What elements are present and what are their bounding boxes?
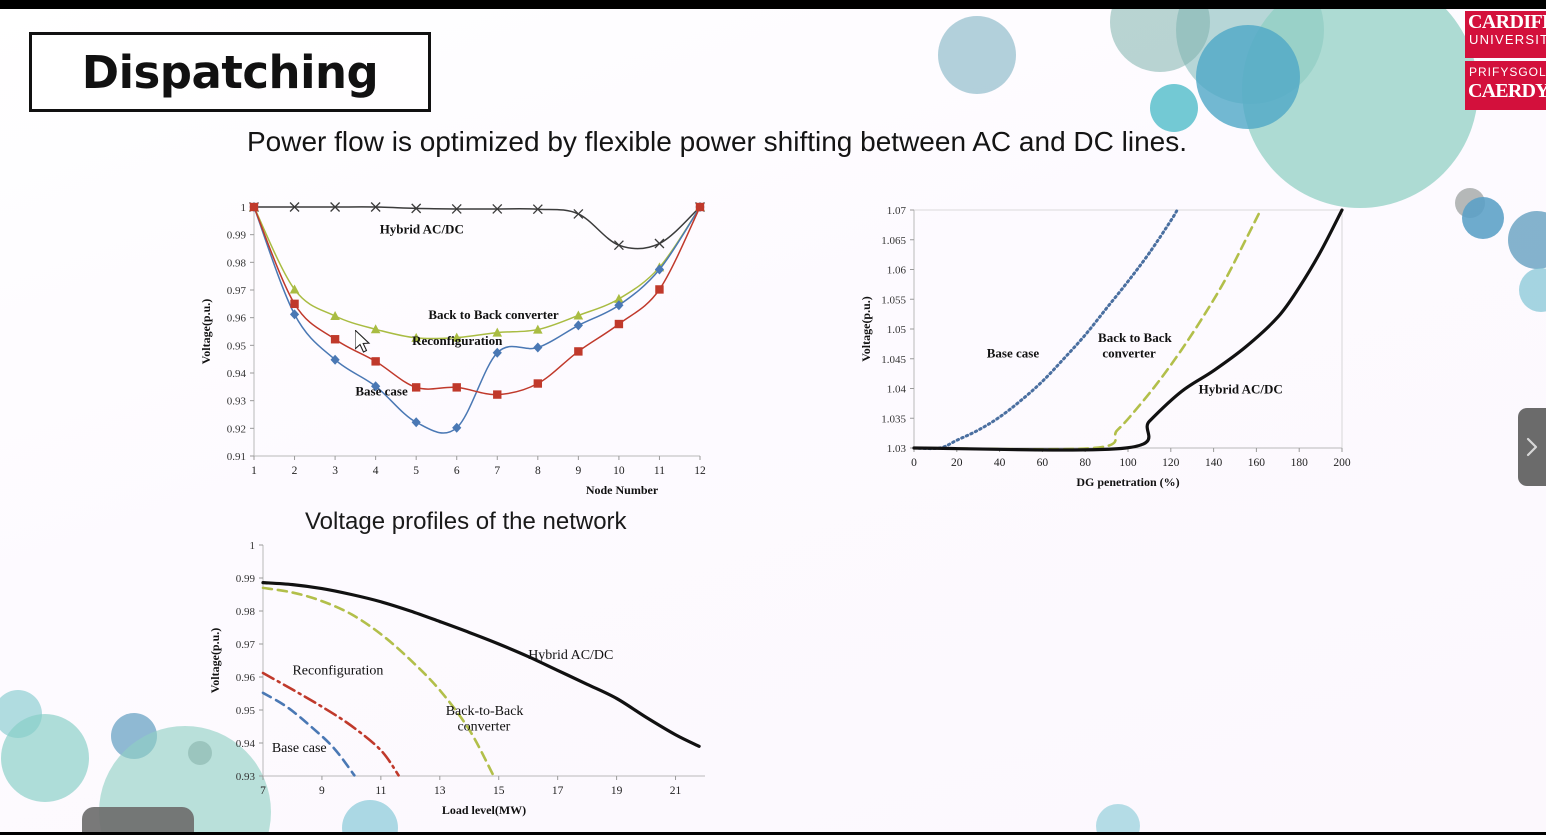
cardiff-logo-bottom: PRIFYSGOL CAERDYDD — [1465, 61, 1546, 110]
svg-text:0.94: 0.94 — [236, 738, 256, 750]
chart-voltage-profiles-node: 0.910.920.930.940.950.960.970.980.991123… — [192, 193, 712, 508]
logo-line-caerdydd: CAERDYDD — [1465, 80, 1546, 102]
svg-text:Back to Back: Back to Back — [1098, 330, 1172, 345]
svg-text:1.035: 1.035 — [881, 413, 906, 425]
next-slide-button[interactable] — [1518, 408, 1546, 486]
svg-text:Back to Back converter: Back to Back converter — [428, 307, 559, 322]
svg-text:19: 19 — [611, 785, 623, 797]
svg-text:converter: converter — [1102, 346, 1156, 361]
chevron-right-icon — [1525, 436, 1539, 458]
svg-text:10: 10 — [613, 465, 625, 477]
svg-text:180: 180 — [1291, 457, 1309, 469]
svg-text:Load level(MW): Load level(MW) — [442, 803, 526, 817]
svg-text:8: 8 — [535, 465, 541, 477]
svg-text:DG penetration (%): DG penetration (%) — [1076, 475, 1179, 489]
svg-text:60: 60 — [1037, 457, 1049, 469]
svg-text:Reconfiguration: Reconfiguration — [292, 663, 383, 678]
page-title-text: Dispatching — [82, 46, 379, 99]
svg-text:1.03: 1.03 — [887, 443, 907, 455]
svg-text:21: 21 — [670, 785, 682, 797]
presentation-slide: CARDIFF UNIVERSITY PRIFYSGOL CAERDYDD Di… — [0, 0, 1546, 835]
svg-text:6: 6 — [454, 465, 460, 477]
chart-3-canvas: 0.930.940.950.960.970.980.99179111315171… — [205, 533, 715, 828]
svg-text:Hybrid AC/DC: Hybrid AC/DC — [528, 648, 613, 663]
svg-text:11: 11 — [375, 785, 386, 797]
svg-text:1.055: 1.055 — [881, 294, 906, 306]
svg-text:Hybrid AC/DC: Hybrid AC/DC — [380, 221, 464, 236]
svg-text:0.99: 0.99 — [227, 230, 247, 242]
svg-text:0.93: 0.93 — [227, 396, 247, 408]
svg-text:13: 13 — [434, 785, 446, 797]
svg-text:0.93: 0.93 — [236, 771, 256, 783]
svg-text:0.96: 0.96 — [227, 313, 247, 325]
svg-text:1.045: 1.045 — [881, 354, 906, 366]
svg-text:0.96: 0.96 — [236, 672, 256, 684]
svg-text:Reconfiguration: Reconfiguration — [412, 333, 503, 348]
svg-text:40: 40 — [994, 457, 1006, 469]
svg-text:1.065: 1.065 — [881, 235, 906, 247]
svg-text:17: 17 — [552, 785, 564, 797]
svg-text:12: 12 — [694, 465, 706, 477]
svg-text:1.07: 1.07 — [887, 205, 907, 217]
svg-text:0.98: 0.98 — [227, 257, 247, 269]
chart-1-canvas: 0.910.920.930.940.950.960.970.980.991123… — [192, 193, 712, 508]
svg-text:0.95: 0.95 — [227, 340, 247, 352]
svg-text:20: 20 — [951, 457, 963, 469]
svg-text:Back-to-Back: Back-to-Back — [446, 704, 524, 719]
svg-text:Base case: Base case — [987, 346, 1040, 361]
svg-text:1.04: 1.04 — [887, 384, 907, 396]
svg-text:5: 5 — [413, 465, 419, 477]
svg-text:Voltage(p.u.): Voltage(p.u.) — [859, 296, 873, 362]
svg-text:2: 2 — [292, 465, 298, 477]
cardiff-logo-top: CARDIFF UNIVERSITY — [1465, 11, 1546, 58]
svg-text:Base case: Base case — [355, 384, 408, 399]
svg-text:140: 140 — [1205, 457, 1223, 469]
svg-text:Voltage(p.u.): Voltage(p.u.) — [208, 628, 222, 694]
svg-text:0.97: 0.97 — [236, 639, 256, 651]
svg-text:0.94: 0.94 — [227, 368, 247, 380]
svg-text:11: 11 — [654, 465, 665, 477]
letterbox-top-bar — [0, 0, 1546, 9]
svg-text:0.92: 0.92 — [227, 423, 246, 435]
svg-text:0.95: 0.95 — [236, 705, 256, 717]
svg-text:3: 3 — [332, 465, 338, 477]
svg-text:1: 1 — [250, 540, 256, 552]
svg-text:0.98: 0.98 — [236, 606, 256, 618]
chart-dg-penetration: 1.031.0351.041.0451.051.0551.061.0651.07… — [852, 196, 1362, 506]
svg-text:converter: converter — [457, 719, 510, 734]
svg-text:1: 1 — [241, 202, 247, 214]
logo-line-cardiff: CARDIFF — [1465, 11, 1546, 33]
svg-text:0.99: 0.99 — [236, 573, 256, 585]
logo-line-prifysgol: PRIFYSGOL — [1465, 61, 1546, 80]
svg-text:9: 9 — [575, 465, 581, 477]
logo-line-university: UNIVERSITY — [1465, 33, 1546, 47]
svg-text:200: 200 — [1333, 457, 1351, 469]
svg-text:1: 1 — [251, 465, 257, 477]
svg-text:80: 80 — [1079, 457, 1091, 469]
page-title: Dispatching — [29, 32, 431, 112]
svg-text:7: 7 — [260, 785, 266, 797]
svg-text:100: 100 — [1119, 457, 1137, 469]
svg-text:Hybrid AC/DC: Hybrid AC/DC — [1199, 381, 1283, 396]
svg-text:Base case: Base case — [272, 741, 327, 756]
svg-text:0.91: 0.91 — [227, 451, 246, 463]
svg-text:0.97: 0.97 — [227, 285, 247, 297]
chart-caption: Voltage profiles of the network — [305, 508, 627, 536]
svg-text:4: 4 — [373, 465, 379, 477]
presentation-toolbar[interactable] — [82, 807, 194, 835]
svg-text:120: 120 — [1162, 457, 1180, 469]
chart-2-canvas: 1.031.0351.041.0451.051.0551.061.0651.07… — [852, 196, 1362, 506]
svg-text:1.05: 1.05 — [887, 324, 907, 336]
svg-text:Node Number: Node Number — [586, 483, 659, 497]
svg-text:160: 160 — [1248, 457, 1266, 469]
svg-text:9: 9 — [319, 785, 325, 797]
slide-subtitle: Power flow is optimized by flexible powe… — [247, 126, 1187, 158]
svg-text:0: 0 — [911, 457, 917, 469]
svg-text:15: 15 — [493, 785, 505, 797]
svg-text:7: 7 — [494, 465, 500, 477]
svg-text:Voltage(p.u.): Voltage(p.u.) — [199, 299, 213, 365]
svg-text:1.06: 1.06 — [887, 265, 907, 277]
chart-voltage-vs-load: 0.930.940.950.960.970.980.99179111315171… — [205, 533, 715, 828]
